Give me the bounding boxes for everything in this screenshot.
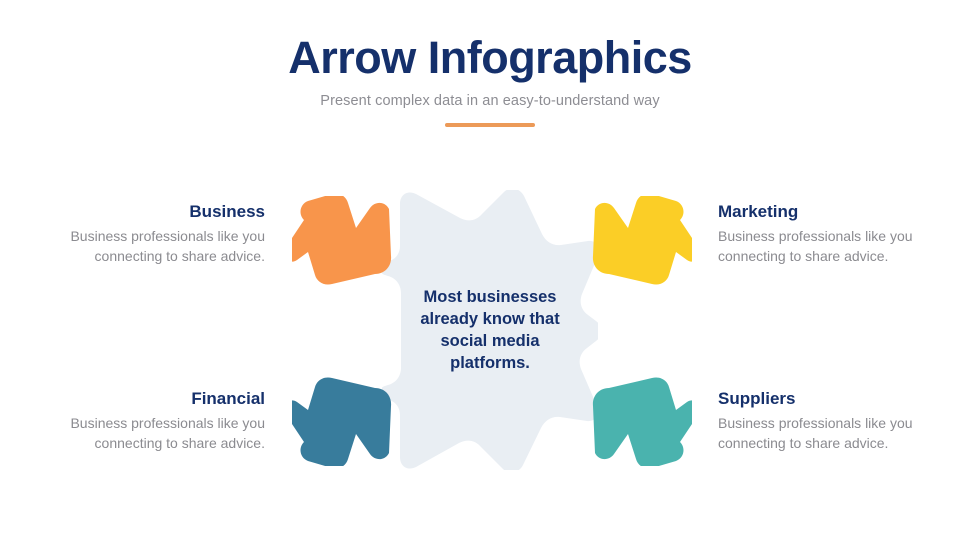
center-callout-text: Most businesses already know that social… — [382, 190, 598, 470]
item-marketing-description: Business professionals like you connecti… — [718, 227, 958, 267]
page-title: Arrow Infographics — [0, 34, 980, 81]
page-subtitle: Present complex data in an easy-to-under… — [0, 93, 980, 109]
arrow-up-right-icon — [292, 374, 392, 466]
item-suppliers-label: Suppliers — [718, 389, 958, 409]
item-marketing: Marketing Business professionals like yo… — [718, 202, 958, 267]
slide-canvas: Arrow Infographics Present complex data … — [0, 0, 980, 551]
item-suppliers-description: Business professionals like you connecti… — [718, 414, 958, 454]
item-financial-label: Financial — [25, 389, 265, 409]
item-financial-description: Business professionals like you connecti… — [25, 414, 265, 454]
center-callout: Most businesses already know that social… — [382, 190, 598, 470]
title-divider — [445, 123, 535, 127]
arrow-up-left-icon — [592, 374, 692, 466]
arrow-down-left-icon — [592, 196, 692, 288]
item-marketing-label: Marketing — [718, 202, 958, 222]
slide-header: Arrow Infographics Present complex data … — [0, 34, 980, 127]
item-business: Business Business professionals like you… — [25, 202, 265, 267]
item-financial: Financial Business professionals like yo… — [25, 389, 265, 454]
item-suppliers: Suppliers Business professionals like yo… — [718, 389, 958, 454]
arrow-down-right-icon — [292, 196, 392, 288]
item-business-description: Business professionals like you connecti… — [25, 227, 265, 267]
item-business-label: Business — [25, 202, 265, 222]
